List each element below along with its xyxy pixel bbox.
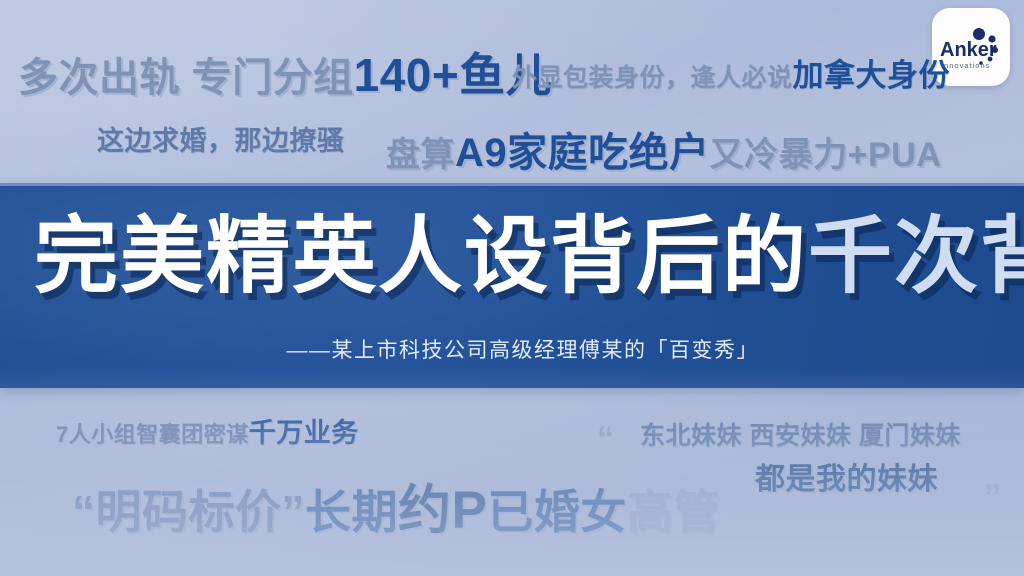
line-sisters-claim: 都是我的妹妹 (755, 465, 938, 495)
headline-tint: 千次背叛 (808, 209, 1024, 303)
line-price-tag-mid: 长期 (305, 486, 398, 538)
page-title: 完美精英人设背后的千次背叛 (34, 214, 1024, 298)
line-multiple-affairs: 多次出轨 专门分组140+鱼儿 (18, 52, 552, 98)
line-a9-family-prefix: 盘算 (386, 136, 455, 174)
line-price-tag-grey: 高管 (627, 486, 720, 538)
quote-close-icon: ” (984, 478, 1001, 517)
line-price-tag-navy: 约P (398, 481, 487, 540)
line-think-tank-grey: 7人小组智囊团密谋 (56, 422, 249, 447)
quote-open-icon: “ (597, 420, 614, 459)
line-think-tank: 7人小组智囊团密谋千万业务 (56, 420, 359, 447)
line-sisters-list: 东北妹妹 西安妹妹 厦门妹妹 (640, 424, 961, 449)
line-identity-grey: 外显包装身份，逢人必说 (512, 64, 793, 92)
line-identity-navy: 加拿大身份 (793, 58, 951, 93)
line-price-tag: “明码标价”长期约P已婚女高管 (72, 484, 720, 537)
line-a9-family-navy: A9家庭吃绝户 (455, 131, 710, 175)
line-price-tag-navy-dark: 已婚女 (487, 486, 627, 538)
line-identity: 外显包装身份，逢人必说加拿大身份 (512, 60, 950, 91)
line-think-tank-navy: 千万业务 (249, 418, 359, 448)
headline-white: 完美精英人设背后的 (34, 209, 808, 303)
line-a9-family-suffix: 又冷暴力+PUA (710, 136, 942, 174)
headline-banner: 完美精英人设背后的千次背叛 ——某上市科技公司高级经理傅某的「百变秀」 (0, 183, 1024, 388)
line-a9-family: 盘算A9家庭吃绝户又冷暴力+PUA (386, 133, 941, 173)
line-proposal: 这边求婚，那边撩骚 (97, 128, 345, 155)
poster-canvas: Anker Innovations 多次出轨 专门分组140+鱼儿 这边求婚，那… (0, 0, 1024, 576)
headline-subtitle: ——某上市科技公司高级经理傅某的「百变秀」 (287, 334, 760, 364)
line-price-tag-quoted: “明码标价” (72, 486, 305, 538)
line-multiple-affairs-grey: 多次出轨 专门分组 (18, 56, 354, 100)
